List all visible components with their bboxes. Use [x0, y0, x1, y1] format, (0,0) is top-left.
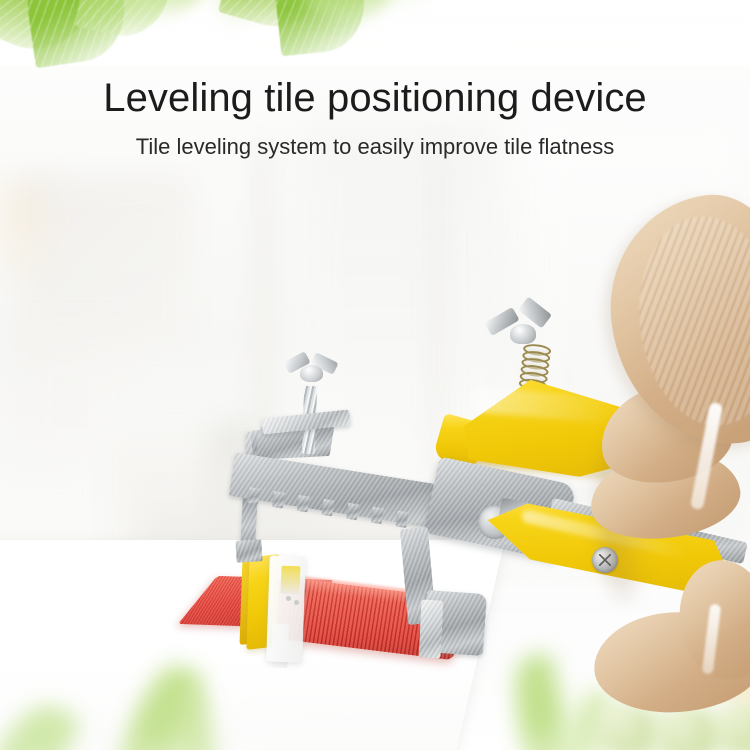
rail-tooth-3: [321, 499, 334, 517]
rail-tooth-0: [247, 487, 260, 505]
left-wing-nut: [285, 352, 337, 392]
left-arm-foot: [235, 539, 262, 563]
rail-tooth-4: [346, 503, 359, 521]
right-wing-nut: [486, 304, 554, 352]
white-clip-hole-upper: [286, 596, 291, 601]
white-clip-hole-lower: [294, 600, 299, 605]
rail-tooth-1: [272, 491, 285, 509]
page-title: Leveling tile positioning device: [0, 76, 750, 120]
right-wing-nut-hub: [510, 324, 536, 344]
jaw-foot-lip: [418, 599, 443, 658]
rail-tooth-5: [371, 507, 384, 525]
rail-tooth-6: [395, 511, 408, 529]
rail-tooth-2: [297, 495, 310, 513]
product-image-stage: Leveling tile positioning device Tile le…: [0, 0, 750, 750]
left-wing-nut-hub: [300, 365, 323, 382]
white-clip-slot: [281, 566, 301, 595]
page-subtitle: Tile leveling system to easily improve t…: [0, 133, 750, 161]
